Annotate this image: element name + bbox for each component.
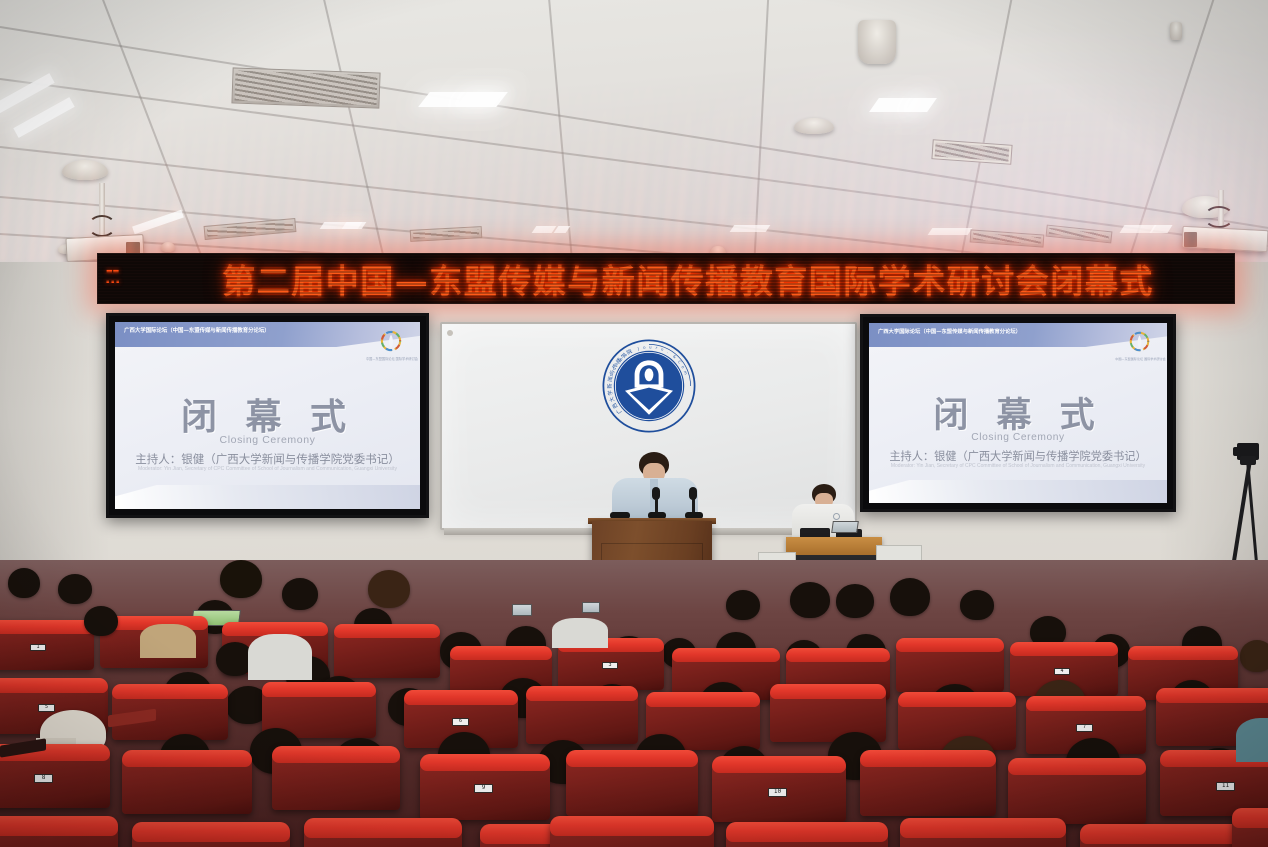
seat-number-plate: 9 [474,784,493,793]
slide-moderator-cn: 主持人：银健（广西大学新闻与传播学院党委书记） [115,451,420,467]
microphone-head [689,487,697,500]
seat-number-plate: 10 [768,788,787,797]
slide-subtitle: Closing Ceremony [869,432,1167,443]
forum-logo-icon [378,328,404,354]
audience-shoulders [140,624,196,658]
audience-head [790,582,830,618]
auditorium-seat[interactable] [0,816,118,847]
slide-moderator-en: Moderator: Yin Jian, Secretary of CPC Co… [869,463,1167,471]
slide-title: 闭 幕 式 [869,387,1167,438]
auditorium-seat[interactable] [122,750,252,814]
audience-head [8,568,40,598]
auditorium-seat[interactable] [132,822,290,847]
auditorium-seat[interactable] [1232,808,1268,847]
seat-number-plate: 3 [602,662,618,669]
camera-lens-icon [1233,447,1239,456]
audience-head [282,578,318,610]
slide-header-text: 广西大学国际论坛（中国—东盟传媒与新闻传播教育分论坛） [878,327,1021,335]
audience-shoulders [248,634,312,680]
audience-shoulders [1236,718,1268,762]
svg-text:C: C [676,359,682,364]
auditorium-seat[interactable] [566,750,698,816]
slide-footer-band [869,480,1167,503]
auditorium-seat[interactable] [726,822,888,847]
svg-text:.: . [666,349,670,354]
audience-head [58,574,92,604]
auditorium-seat[interactable]: 9 [420,754,550,820]
lecture-hall-photo: ▬▬▪ ▪ ▪ 第二届中国—东盟传媒与新闻传播教育国际学术研讨会闭幕式 广西大学… [0,0,1268,847]
whiteboard-screw [447,330,453,336]
svg-text:u: u [649,344,652,349]
seat-number-plate: 1 [30,644,46,651]
slide-footer-band [115,485,420,509]
polo-logo-icon [833,513,840,520]
seat-number-plate: 7 [1076,724,1093,732]
auditorium-seat[interactable]: 1 [550,816,714,847]
slide-title: 闭 幕 式 [115,388,420,440]
audience-head [890,578,930,616]
auditorium-seat[interactable] [1008,758,1146,824]
auditorium-seat[interactable] [770,684,886,742]
svg-text:学: 学 [605,390,614,397]
led-banner: ▬▬▪ ▪ ▪ 第二届中国—东盟传媒与新闻传播教育国际学术研讨会闭幕式 [97,253,1235,304]
forum-logo-caption: 中国—东盟国际论坛 国际学术研讨会 [1112,357,1167,361]
auditorium-seat[interactable]: 2 [900,818,1066,847]
svg-text:新: 新 [605,383,613,388]
svg-text:o: o [680,365,686,370]
audience-seating: 1 2 3 [0,560,1268,847]
slide-right: 广西大学国际论坛（中国—东盟传媒与新闻传播教育分论坛） 中国—东盟国际论坛 国际… [869,323,1167,503]
audience-head [368,570,410,608]
svg-text:m: m [682,370,688,375]
university-emblem-icon: S c h o o l J o u r n . & C o m [601,338,697,439]
audience-head [726,590,760,620]
audience-head [1240,640,1268,672]
slide-moderator-en: Moderator: Yin Jian, Secretary of CPC Co… [115,466,420,474]
audience-head [836,584,874,618]
audience-tablet[interactable] [512,604,532,616]
av-control-desk[interactable] [786,537,882,555]
ceiling [0,0,1268,262]
auditorium-seat[interactable]: 1 [0,620,94,670]
slide-subtitle: Closing Ceremony [115,434,420,446]
auditorium-seat[interactable]: 12 [304,818,462,847]
microphone-head [652,487,660,500]
led-banner-side-marks: ▬▬▪ ▪ ▪ [106,266,119,287]
slide-header-text: 广西大学国际论坛（中国—东盟传媒与新闻传播教育分论坛） [124,326,270,334]
auditorium-seat[interactable]: 10 [712,756,846,822]
svg-text:J: J [636,346,639,351]
slide-moderator-cn: 主持人：银健（广西大学新闻与传播学院党委书记） [869,448,1167,464]
led-banner-text: 第二届中国—东盟传媒与新闻传播教育国际学术研讨会闭幕式 [148,255,1228,303]
seat-number-plate: 5 [38,704,55,712]
right-projection-screen[interactable]: 广西大学国际论坛（中国—东盟传媒与新闻传播教育分论坛） 中国—东盟国际论坛 国际… [860,314,1176,512]
seat-number-plate: 6 [452,718,469,726]
laptop-screen[interactable] [831,521,859,533]
svg-text:r: r [655,345,658,350]
forum-logo-icon [1127,329,1152,354]
left-projection-screen[interactable]: 广西大学国际论坛（中国—东盟传媒与新闻传播教育分论坛） 中国—东盟国际论坛 国际… [106,313,429,518]
seat-number-plate: 8 [34,774,53,783]
seat-number-plate: 4 [1054,668,1070,675]
auditorium-seat[interactable] [272,746,400,810]
forum-logo-caption: 中国—东盟国际论坛 国际学术研讨会 [363,357,420,361]
audience-head [84,606,118,636]
seat-number-plate: 11 [1216,782,1235,791]
auditorium-seat[interactable] [526,686,638,744]
audience-shoulders [552,618,608,648]
svg-text:o: o [642,344,646,349]
audience-head [960,590,994,620]
slide-left: 广西大学国际论坛（中国—东盟传媒与新闻传播教育分论坛） 中国—东盟国际论坛 国际… [115,322,420,509]
audience-tablet[interactable] [582,602,600,613]
tripod-head [1240,456,1256,465]
auditorium-seat[interactable] [1080,824,1248,847]
auditorium-seat[interactable] [860,750,996,816]
svg-text:&: & [671,354,677,360]
svg-text:n: n [660,346,665,352]
audience-head [220,560,262,598]
auditorium-seat[interactable] [334,624,440,678]
svg-text:大: 大 [607,396,616,404]
